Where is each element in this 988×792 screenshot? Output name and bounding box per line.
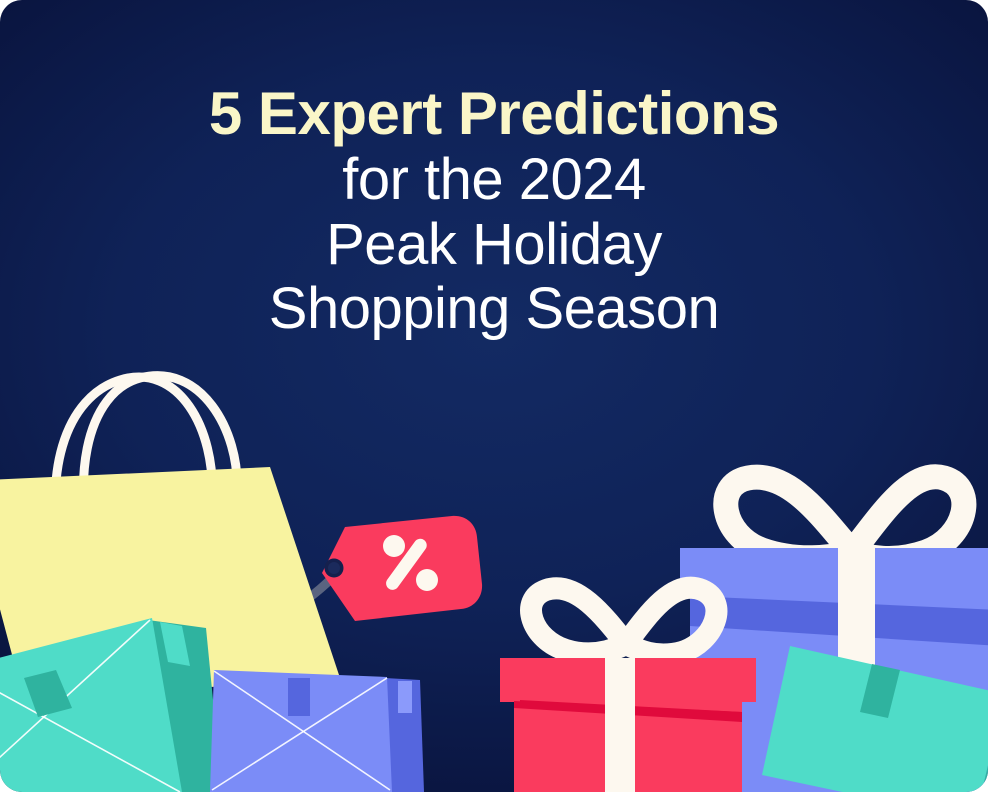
blue-gift-bow-icon <box>726 477 964 559</box>
red-gift-bow-icon <box>531 588 716 655</box>
discount-price-tag <box>322 516 482 621</box>
red-gift-box <box>500 588 756 792</box>
blue-parcel-left <box>210 670 424 792</box>
holiday-shopping-illustration <box>0 0 988 792</box>
holiday-predictions-poster: 5 Expert Predictions for the 2024 Peak H… <box>0 0 988 792</box>
